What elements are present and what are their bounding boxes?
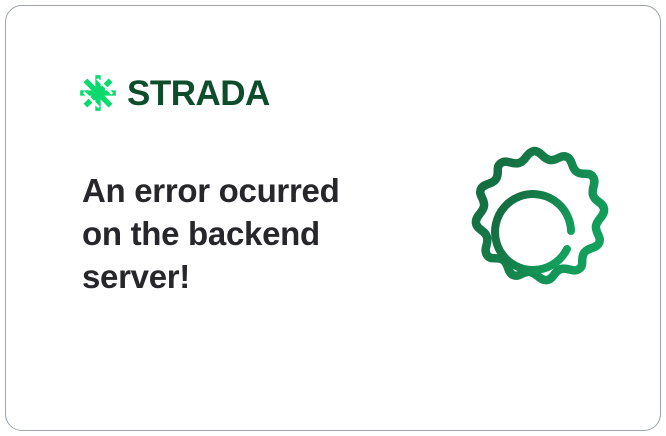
gear-cog-icon	[449, 139, 619, 309]
brand-wordmark: STRADA	[127, 76, 270, 111]
brand-lockup: STRADA	[79, 74, 270, 112]
strada-asterisk-icon	[79, 74, 117, 112]
error-screen: STRADA An error ocurred on the backend s…	[0, 0, 666, 436]
error-message: An error ocurred on the backend server!	[82, 169, 372, 298]
error-card: STRADA An error ocurred on the backend s…	[5, 5, 661, 431]
